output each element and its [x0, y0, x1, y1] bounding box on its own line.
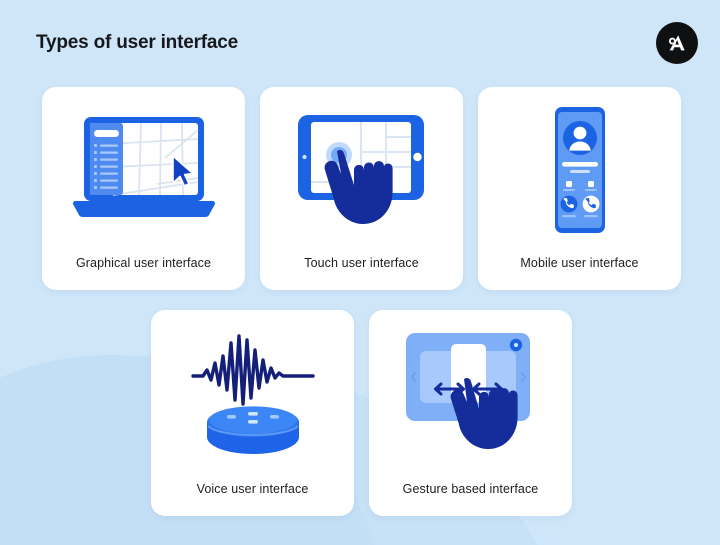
card-touch-user-interface[interactable]: Touch user interface [260, 87, 463, 290]
card-label: Gesture based interface [369, 482, 572, 496]
brand-logo-icon [656, 22, 698, 64]
card-graphical-user-interface[interactable]: Graphical user interface [42, 87, 245, 290]
illustration-touch-panel-swipe-hand [369, 318, 572, 468]
illustration-laptop-map-cursor [42, 95, 245, 245]
card-label: Voice user interface [151, 482, 354, 496]
card-label: Graphical user interface [42, 256, 245, 270]
card-mobile-user-interface[interactable]: Mobile user interface [478, 87, 681, 290]
card-voice-user-interface[interactable]: Voice user interface [151, 310, 354, 516]
illustration-smartphone-contact-call [478, 95, 681, 245]
card-gesture-based-interface[interactable]: Gesture based interface [369, 310, 572, 516]
card-label: Touch user interface [260, 256, 463, 270]
card-label: Mobile user interface [478, 256, 681, 270]
slide-canvas: Types of user interface [0, 0, 720, 545]
illustration-smart-speaker-waveform [151, 318, 354, 468]
illustration-tablet-hand-tap [260, 95, 463, 245]
page-title: Types of user interface [36, 32, 238, 54]
